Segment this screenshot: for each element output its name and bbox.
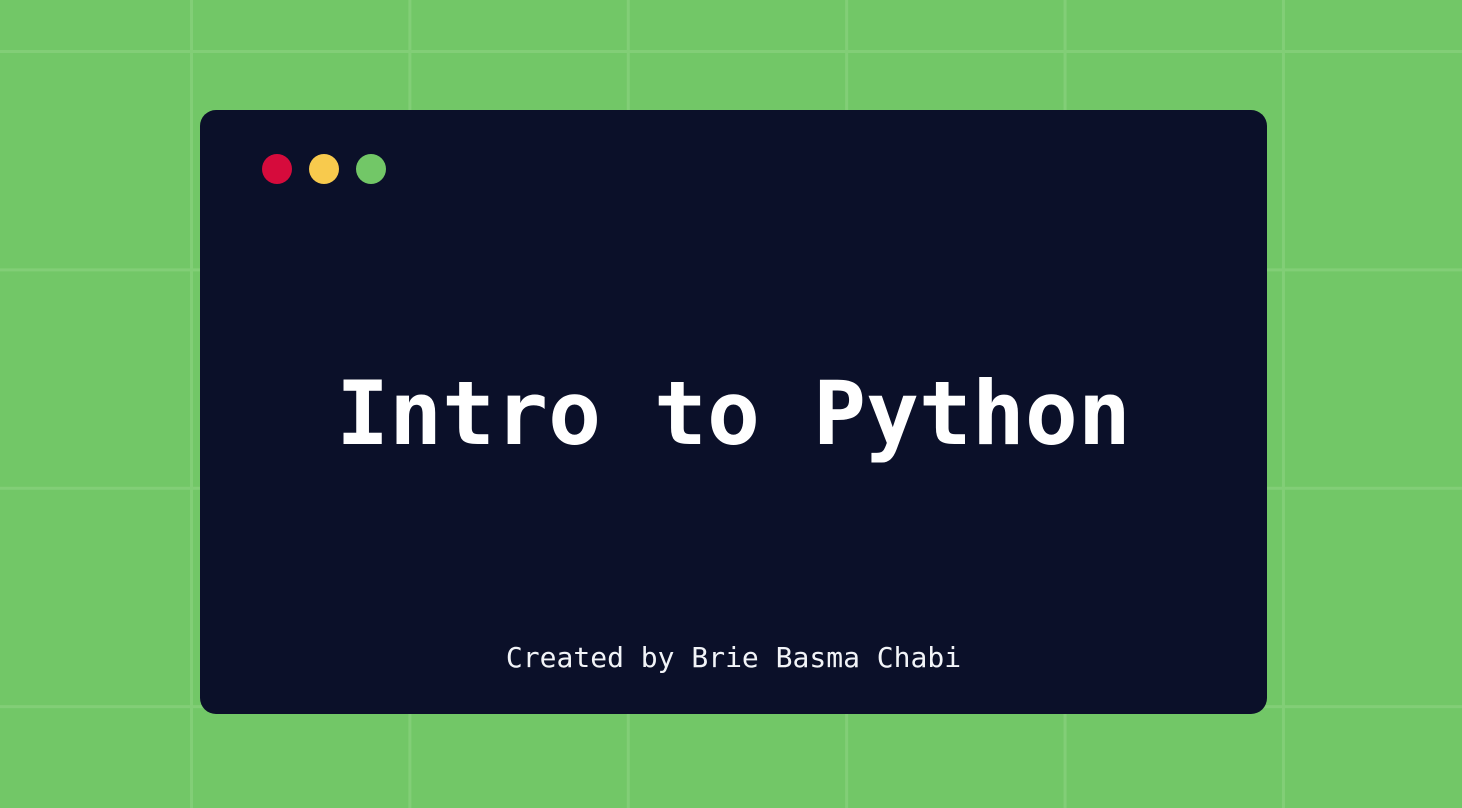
slide-title: Intro to Python: [200, 362, 1267, 466]
grid-backdrop: Intro to Python Created by Brie Basma Ch…: [0, 0, 1462, 808]
slide-content: Intro to Python Created by Brie Basma Ch…: [200, 110, 1267, 714]
window-card: Intro to Python Created by Brie Basma Ch…: [200, 110, 1267, 714]
slide-author-credit: Created by Brie Basma Chabi: [200, 640, 1267, 676]
